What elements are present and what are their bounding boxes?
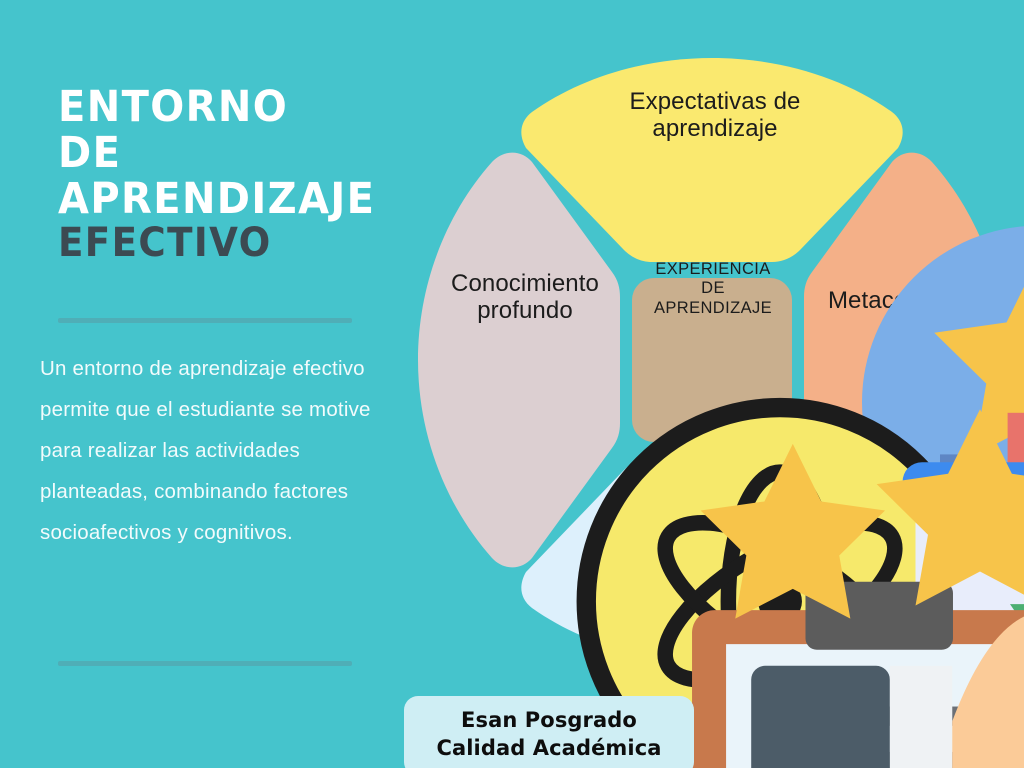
divider-top bbox=[58, 318, 352, 323]
petal-label-left: Conocimiento profundo bbox=[410, 270, 640, 325]
person-speech-bubble-podium-star-icon bbox=[654, 160, 774, 270]
page-title: ENTORNO DE APRENDIZAJE EFECTIVO bbox=[58, 84, 356, 265]
footer-line-1: Esan Posgrado bbox=[461, 707, 637, 735]
footer-line-2: Calidad Académica bbox=[436, 735, 661, 763]
thumbs-up-three-stars-icon bbox=[668, 335, 758, 405]
page-title-line-3: EFECTIVO bbox=[58, 222, 356, 265]
petal-diagram: Expectativas de aprendizaje Conocimiento… bbox=[400, 50, 1024, 670]
divider-bottom bbox=[58, 661, 352, 666]
headline-block: ENTORNO DE APRENDIZAJE EFECTIVO bbox=[58, 84, 378, 265]
page-title-line-2: APRENDIZAJE bbox=[58, 176, 356, 222]
petal-label-top: Expectativas de aprendizaje bbox=[570, 88, 860, 143]
footer-badge: Esan Posgrado Calidad Académica bbox=[404, 696, 694, 768]
page-title-line-1: ENTORNO DE bbox=[58, 84, 356, 176]
body-paragraph: Un entorno de aprendizaje efectivo permi… bbox=[40, 348, 390, 553]
lightbulb-atom-icon bbox=[468, 343, 564, 439]
